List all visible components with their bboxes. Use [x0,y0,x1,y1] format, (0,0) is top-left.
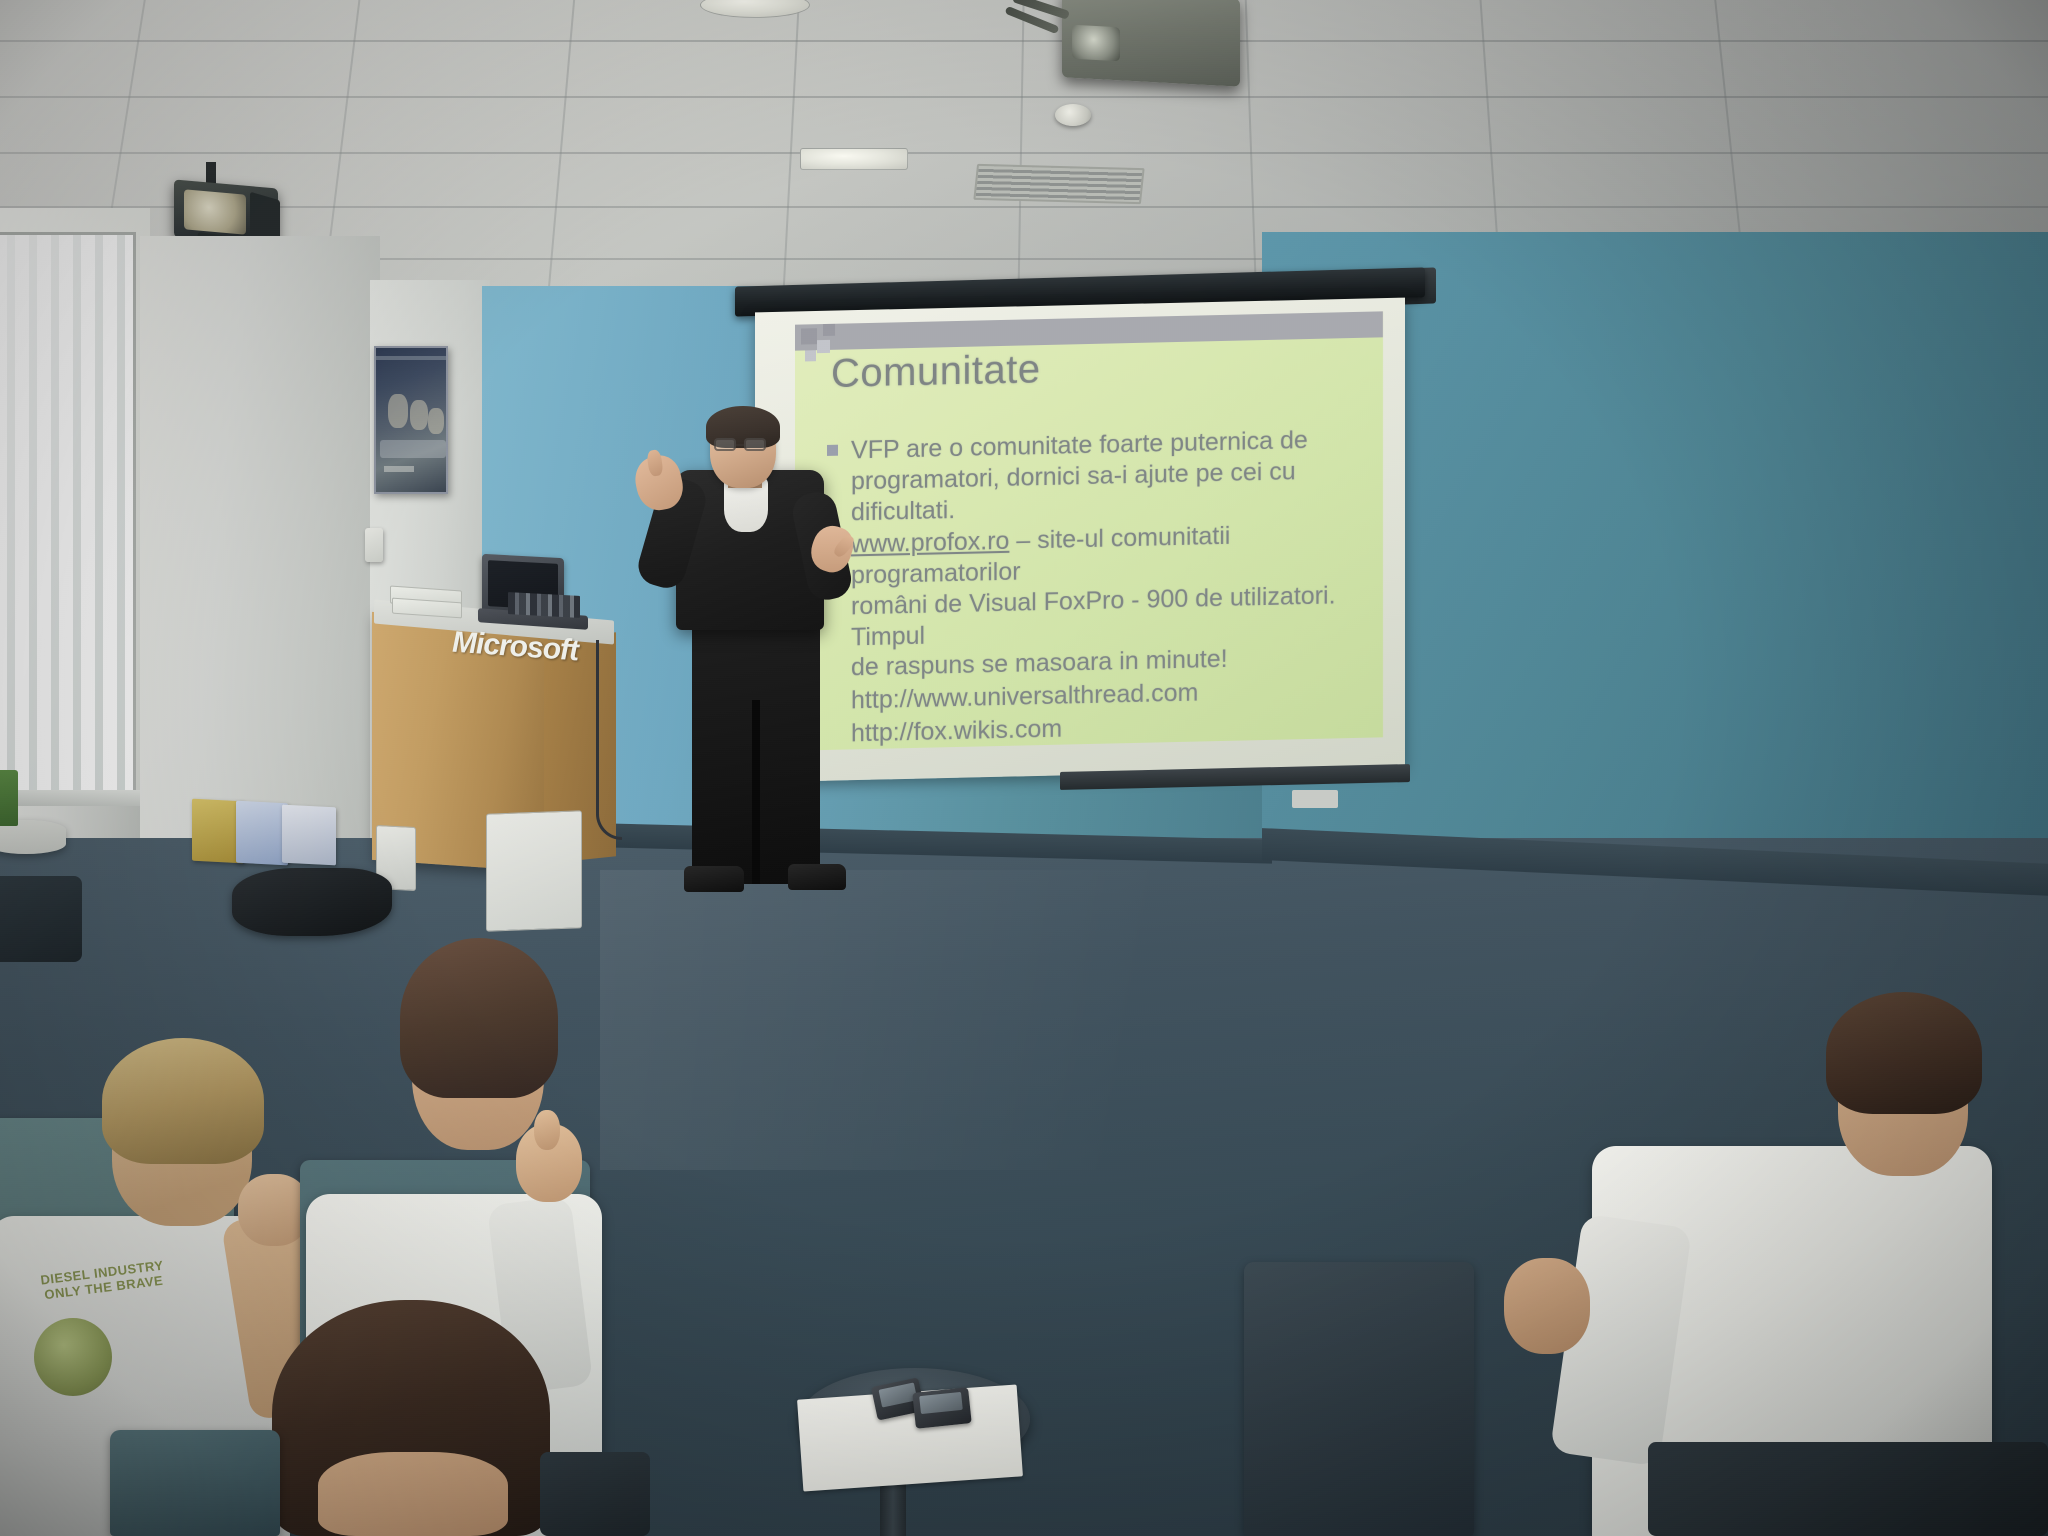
floor-highlight [600,870,1500,1170]
wall-outlet[interactable] [1292,790,1338,808]
tshirt-graphic-globe [34,1318,112,1396]
chair[interactable] [1244,1262,1474,1536]
projector-lens-icon [1072,25,1120,62]
bottle [0,770,18,826]
bullet-text: www.profox.ro – site-ul comunitatii prog… [851,518,1375,684]
room-photograph: Comunitate VFP are o comunitate foarte p… [0,0,2048,1536]
presenter-glasses [744,438,766,451]
smoke-detector-icon [1055,104,1091,126]
window [0,232,136,810]
presenter-glasses [714,438,736,451]
chair[interactable] [1648,1442,2048,1536]
equipment-box [486,810,582,931]
ceiling-light [800,148,908,170]
audience-member-hair [400,938,558,1098]
projected-slide: Comunitate VFP are o comunitate foarte p… [795,311,1383,750]
wall-poster [374,346,448,494]
software-box [236,801,288,866]
slide-decor-square [801,328,817,344]
power-cable [596,640,622,840]
slide-bullet: VFP are o comunitate foarte puternica de… [827,424,1375,529]
audience-member-hand [1504,1258,1590,1354]
spotlight-lens-icon [184,189,246,234]
bullet-marker-icon [827,445,838,456]
chair[interactable] [540,1452,650,1536]
presenter-shoe [684,866,744,892]
floor-bag [232,868,392,936]
chair[interactable] [110,1430,280,1536]
slide-decor-square [823,324,835,336]
slide-bullet: www.profox.ro – site-ul comunitatii prog… [827,518,1375,684]
wall-phone[interactable] [365,528,383,562]
slide-link[interactable]: www.profox.ro [851,527,1009,559]
presenter-leg-gap [752,700,760,884]
slide-title: Comunitate [831,347,1041,397]
audience-member-hair [102,1038,264,1164]
window-light [0,235,133,807]
chair[interactable] [0,876,82,962]
software-box [282,805,336,866]
bullet-text: VFP are o comunitate foarte puternica de… [851,424,1375,528]
slide-decor-square [817,340,830,353]
glasses-bridge [736,444,744,446]
book-stack [508,592,580,618]
audience-member-hair [1826,992,1982,1114]
audience-member-head [318,1452,508,1536]
slide-body: VFP are o comunitate foarte puternica de… [827,424,1375,751]
slide-decor-square [805,350,816,361]
air-vent [973,164,1144,204]
audience-member-finger [534,1110,560,1150]
presenter-shoe [788,864,846,890]
